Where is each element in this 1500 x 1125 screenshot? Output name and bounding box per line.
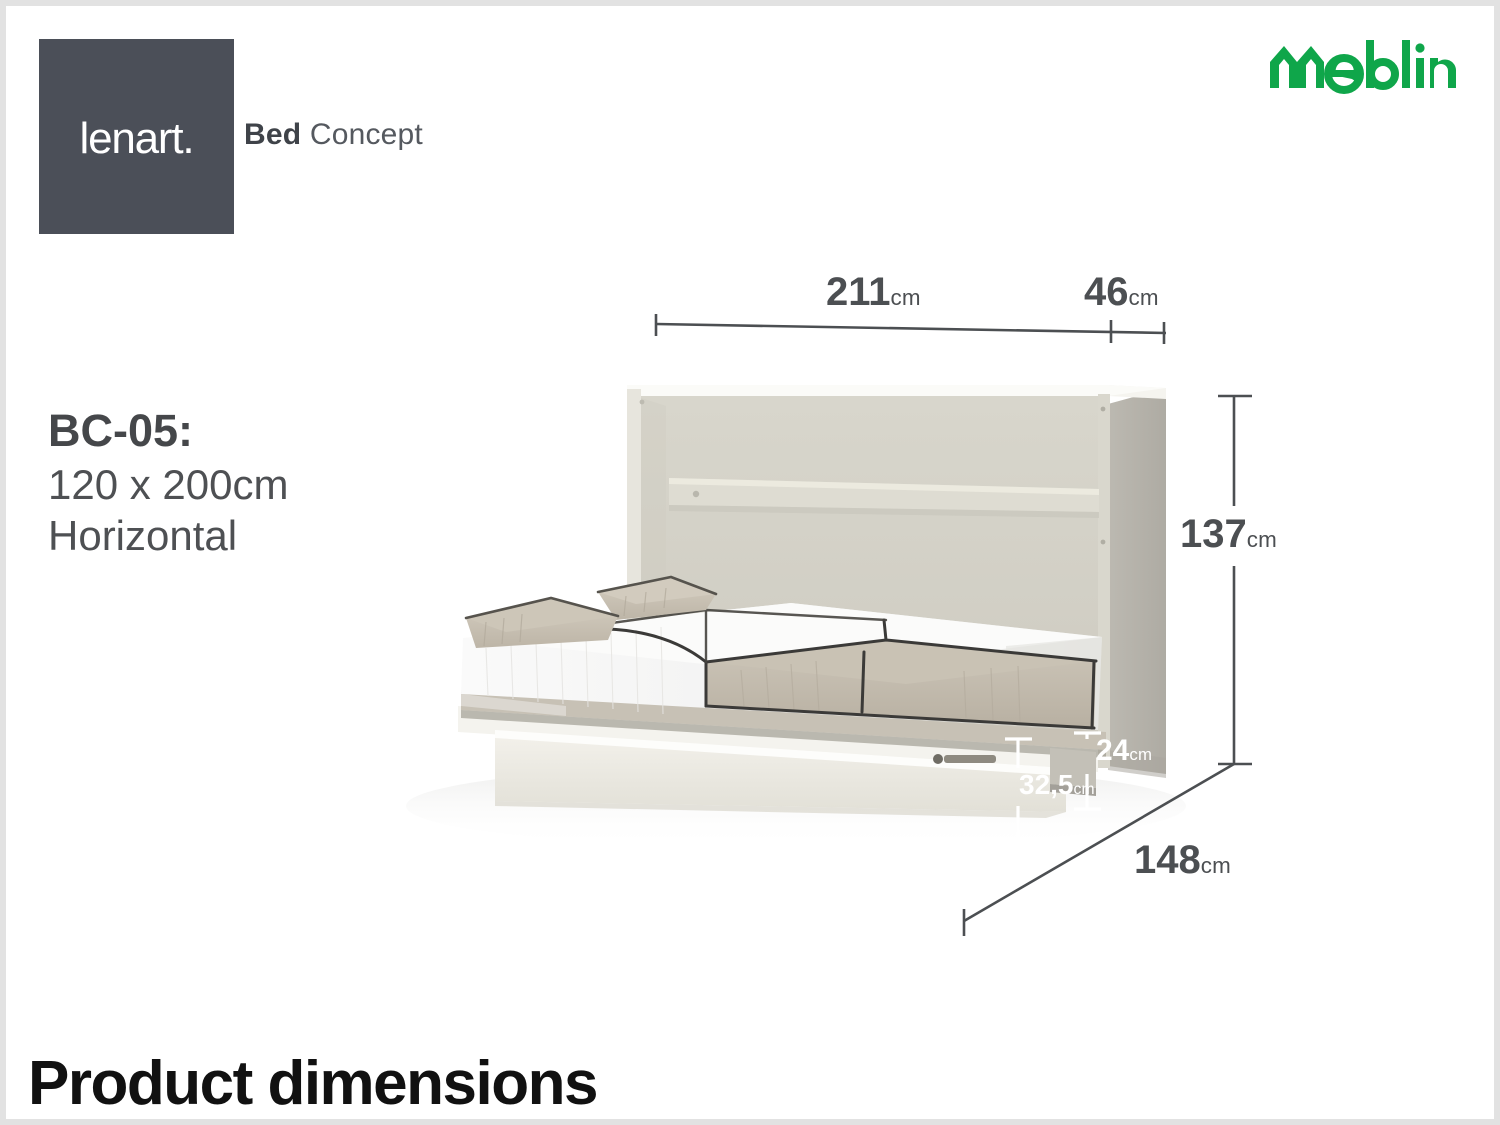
bed-concept-light: Concept xyxy=(310,118,423,151)
product-code: BC-05: xyxy=(48,404,288,459)
bed-concept-bold: Bed xyxy=(244,118,301,151)
product-orientation: Horizontal xyxy=(48,510,288,561)
lenart-logo: lenart. xyxy=(39,39,234,234)
dimension-value-325: 32,5 xyxy=(1019,769,1074,800)
product-size: 120 x 200cm xyxy=(48,459,288,510)
dimension-value-46: 46 xyxy=(1084,270,1129,314)
dimension-value-148: 148 xyxy=(1134,838,1201,882)
dimension-label-height: 137cm xyxy=(1180,514,1277,554)
lenart-wordmark: lenart. xyxy=(80,117,194,161)
dimension-unit-325: cm xyxy=(1074,781,1095,798)
product-title-block: BC-05: 120 x 200cm Horizontal xyxy=(48,404,288,561)
page-title: Product dimensions xyxy=(28,1048,597,1119)
dimension-unit-46: cm xyxy=(1129,285,1159,310)
dimension-unit-211: cm xyxy=(891,285,921,310)
dimension-unit-148: cm xyxy=(1201,853,1231,878)
dimension-value-211: 211 xyxy=(826,270,891,314)
dimension-label-depth: 148cm xyxy=(1134,840,1231,880)
bed-concept-tagline: Bed Concept xyxy=(244,118,423,152)
dimension-label-bed-clearance: 32,5cm xyxy=(1019,771,1095,799)
dimension-label-width-front: 211cm xyxy=(826,272,921,312)
dimension-value-137: 137 xyxy=(1180,512,1247,556)
dimension-value-24: 24 xyxy=(1096,734,1129,767)
dimension-label-plinth-height: 24cm xyxy=(1096,736,1152,766)
meblini-logo xyxy=(1266,36,1456,94)
dimension-unit-24: cm xyxy=(1129,745,1152,764)
dimension-label-width-side: 46cm xyxy=(1084,272,1159,312)
product-dimensions-sheet: lenart. Bed Concept xyxy=(0,0,1500,1125)
dimension-unit-137: cm xyxy=(1247,527,1277,552)
